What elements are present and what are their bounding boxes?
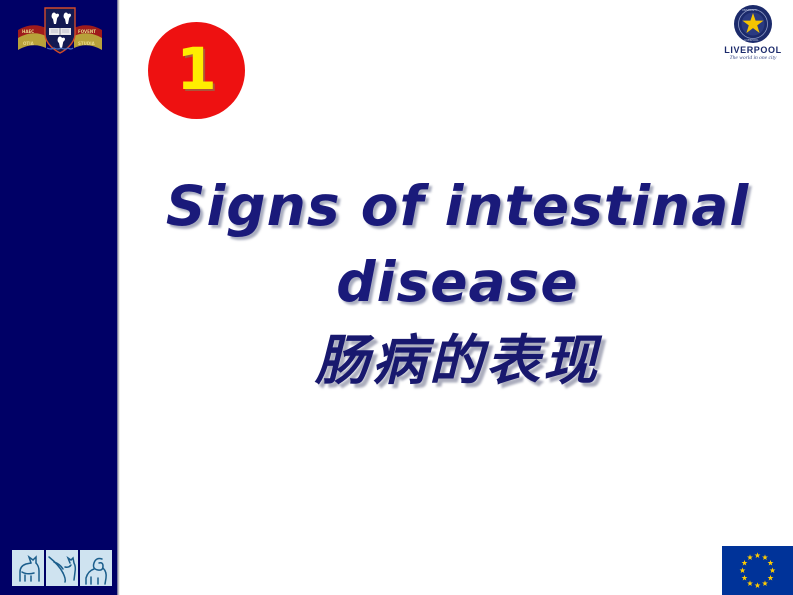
- veterinary-animals-logo-icon: [12, 550, 113, 586]
- horse-outline-icon: [46, 550, 78, 586]
- slide-title-block: Signs of intestinal disease 肠病的表现: [130, 168, 785, 396]
- liverpool-star-seal-icon: UNIVERSITY LIVERPOOL: [733, 4, 773, 44]
- slide-number-badge: 1: [148, 22, 245, 119]
- sidebar-divider: [117, 0, 120, 595]
- svg-text:HAEC: HAEC: [22, 29, 34, 34]
- liverpool-logo: UNIVERSITY LIVERPOOL LIVERPOOL The world…: [718, 2, 788, 68]
- svg-text:UNIVERSITY: UNIVERSITY: [742, 8, 758, 12]
- title-line-chinese: 肠病的表现: [130, 326, 785, 396]
- dog-outline-icon: [80, 550, 112, 586]
- title-line-2: disease: [130, 244, 785, 320]
- cat-outline-icon: [12, 550, 44, 586]
- european-union-flag-icon: [722, 546, 793, 595]
- left-navy-sidebar: [0, 0, 117, 595]
- slide-number-label: 1: [176, 40, 216, 102]
- svg-text:FOVENT: FOVENT: [78, 29, 96, 34]
- svg-text:LIVERPOOL: LIVERPOOL: [744, 38, 759, 42]
- liverpool-tagline: The world in one city: [721, 55, 785, 61]
- slide-canvas: HAEC FOVENT OTIA STUDIA: [0, 0, 793, 595]
- university-of-liverpool-crest-icon: HAEC FOVENT OTIA STUDIA: [14, 4, 106, 56]
- svg-text:OTIA: OTIA: [23, 41, 35, 46]
- liverpool-wordmark: LIVERPOOL: [718, 45, 788, 55]
- svg-text:STUDIA: STUDIA: [78, 41, 96, 46]
- title-line-1: Signs of intestinal: [130, 168, 785, 244]
